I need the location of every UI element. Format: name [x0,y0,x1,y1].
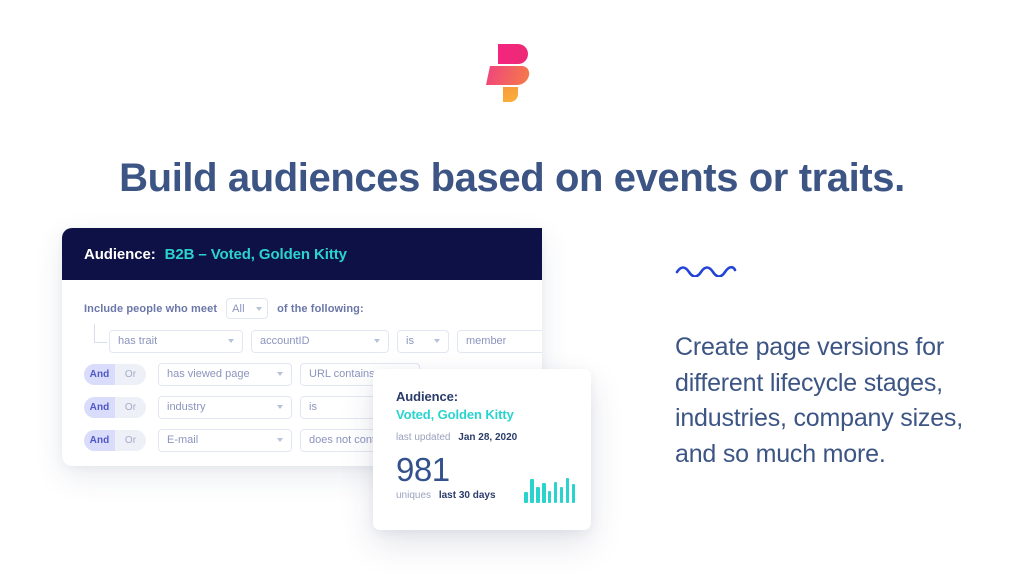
sparkline-bar [554,482,557,503]
condition-subject-value: E-mail [167,434,198,446]
condition-attribute-value: URL contains [309,368,375,380]
condition-operator-select[interactable]: is [397,330,449,353]
sparkline-bar [524,492,527,503]
sparkline-bar [560,487,563,503]
logo-top-bar [498,44,528,64]
logo-bottom-bar [503,87,518,102]
condition-subject-select[interactable]: has viewed page [158,363,292,386]
stats-count-unit: uniques [396,490,431,501]
page-headline: Build audiences based on events or trait… [0,153,1024,203]
match-rule-row: Include people who meet All of the follo… [84,298,542,319]
and-toggle-option[interactable]: And [84,397,115,418]
chevron-down-icon [256,307,262,311]
condition-attribute-value: is [309,401,317,413]
condition-value-input[interactable]: member [457,330,542,353]
chevron-down-icon [277,372,283,376]
sparkline-bar [548,491,551,503]
match-type-select[interactable]: All [226,298,268,319]
logo-middle-bar [486,66,531,85]
stats-last-updated: last updated Jan 28, 2020 [396,432,591,443]
wavy-squiggle-divider-icon [675,264,737,282]
condition-attribute-value: accountID [260,335,310,347]
condition-operator-value: is [406,335,414,347]
sparkline-bar [536,487,539,503]
match-type-value: All [232,303,245,315]
flywheel-f-logo-icon [485,44,539,102]
and-or-toggle[interactable]: And Or [84,364,146,385]
audience-header-value: B2B – Voted, Golden Kitty [165,246,347,263]
condition-attribute-select[interactable]: accountID [251,330,389,353]
and-or-toggle[interactable]: And Or [84,430,146,451]
sparkline-bar [530,479,533,503]
and-or-toggle[interactable]: And Or [84,397,146,418]
condition-row: has trait accountID is member [84,329,542,353]
match-rule-prefix: Include people who meet [84,303,217,315]
or-toggle-option[interactable]: Or [115,430,146,451]
stats-updated-value: Jan 28, 2020 [458,432,517,443]
condition-subject-value: industry [167,401,206,413]
or-toggle-option[interactable]: Or [115,397,146,418]
chevron-down-icon [228,339,234,343]
and-toggle-option[interactable]: And [84,364,115,385]
audience-stats-card: Audience: Voted, Golden Kitty last updat… [373,369,591,530]
condition-subject-select[interactable]: E-mail [158,429,292,452]
or-toggle-option[interactable]: Or [115,364,146,385]
chevron-down-icon [434,339,440,343]
brand-logo-container [0,44,1024,102]
condition-subject-value: has viewed page [167,368,250,380]
sparkline-bar [566,478,569,503]
match-rule-suffix: of the following: [277,303,364,315]
stats-audience-name: Voted, Golden Kitty [396,407,591,422]
sparkline-bar [542,483,545,503]
condition-subject-select[interactable]: has trait [109,330,243,353]
condition-subject-value: has trait [118,335,157,347]
stats-audience-label: Audience: [396,389,591,404]
audience-header-label: Audience: [84,246,156,263]
stats-count-period: last 30 days [439,490,496,501]
condition-subject-select[interactable]: industry [158,396,292,419]
chevron-down-icon [277,405,283,409]
sparkline-bar [572,484,575,503]
stats-updated-label: last updated [396,432,451,443]
chevron-down-icon [277,438,283,442]
and-toggle-option[interactable]: And [84,430,115,451]
right-column-paragraph: Create page versions for different lifec… [675,330,975,472]
sparkline-bar-chart [524,477,575,503]
condition-bracket-connector [94,324,107,343]
audience-builder-header: Audience: B2B – Voted, Golden Kitty [62,228,542,280]
chevron-down-icon [374,339,380,343]
condition-value-text: member [466,335,506,347]
